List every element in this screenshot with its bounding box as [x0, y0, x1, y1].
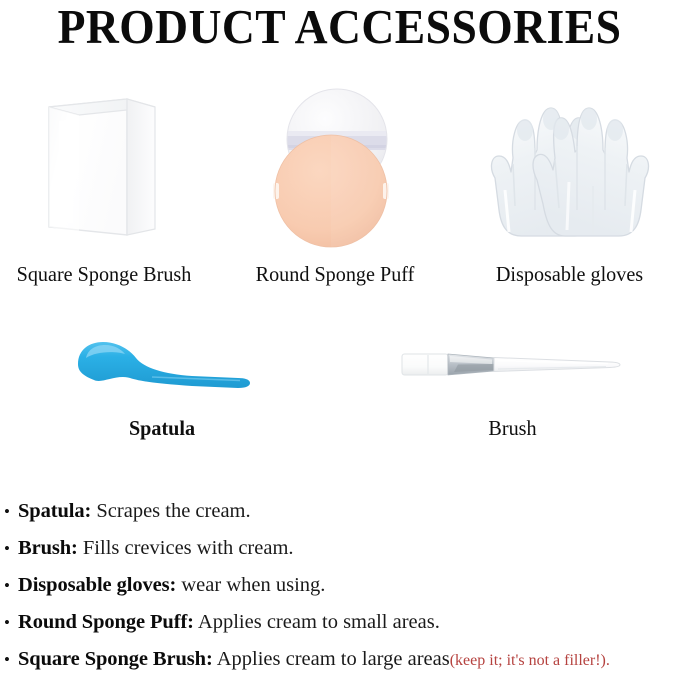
product-row-bottom: Spatula — [0, 330, 679, 445]
bullet-icon: • — [4, 493, 18, 530]
list-item: • Brush: Fills crevices with cream. — [4, 530, 676, 567]
square-sponge-brush-caption: Square Sponge Brush — [4, 262, 204, 287]
square-sponge-brush-icon — [0, 78, 208, 258]
list-item: • Square Sponge Brush: Applies cream to … — [4, 641, 676, 678]
instruction-description: Fills crevices with cream. — [83, 537, 294, 559]
bullet-icon: • — [4, 567, 18, 604]
list-item-body: Spatula: Scrapes the cream. — [18, 493, 676, 530]
product-card-spatula: Spatula — [42, 330, 282, 441]
instruction-term: Square Sponge Brush: — [18, 648, 213, 670]
product-card-brush: Brush — [370, 330, 655, 441]
product-card-square-sponge-brush: Square Sponge Brush — [0, 78, 208, 287]
instructions-list: • Spatula: Scrapes the cream. • Brush: F… — [4, 493, 676, 678]
instruction-term: Spatula: — [18, 500, 91, 522]
list-item: • Disposable gloves: wear when using. — [4, 567, 676, 604]
brush-caption: Brush — [376, 416, 650, 441]
bullet-icon: • — [4, 604, 18, 641]
instruction-description: wear when using. — [181, 574, 325, 596]
instruction-term: Round Sponge Puff: — [18, 611, 194, 633]
instruction-note: (keep it; it's not a filler!). — [450, 652, 610, 669]
product-card-disposable-gloves: Disposable gloves — [460, 78, 679, 287]
bullet-icon: • — [4, 641, 18, 678]
spatula-caption: Spatula — [47, 416, 277, 441]
list-item-body: Square Sponge Brush: Applies cream to la… — [18, 641, 676, 679]
list-item-body: Disposable gloves: wear when using. — [18, 567, 676, 604]
disposable-gloves-icon — [460, 78, 679, 258]
product-card-round-sponge-puff: Round Sponge Puff — [230, 78, 440, 287]
bullet-icon: • — [4, 530, 18, 567]
instruction-term: Disposable gloves: — [18, 574, 176, 596]
disposable-gloves-caption: Disposable gloves — [464, 262, 674, 287]
instruction-description: Applies cream to large areas — [217, 648, 450, 670]
instruction-description: Scrapes the cream. — [96, 500, 250, 522]
spatula-icon — [42, 330, 282, 400]
brush-icon — [370, 330, 655, 400]
instruction-description: Applies cream to small areas. — [198, 611, 440, 633]
product-row-top: Square Sponge Brush — [0, 78, 679, 303]
list-item-body: Brush: Fills crevices with cream. — [18, 530, 676, 567]
round-sponge-puff-caption: Round Sponge Puff — [234, 262, 436, 287]
page-title: PRODUCT ACCESSORIES — [24, 0, 655, 52]
round-sponge-puff-icon — [230, 78, 440, 258]
instruction-term: Brush: — [18, 537, 78, 559]
list-item-body: Round Sponge Puff: Applies cream to smal… — [18, 604, 676, 641]
list-item: • Round Sponge Puff: Applies cream to sm… — [4, 604, 676, 641]
list-item: • Spatula: Scrapes the cream. — [4, 493, 676, 530]
